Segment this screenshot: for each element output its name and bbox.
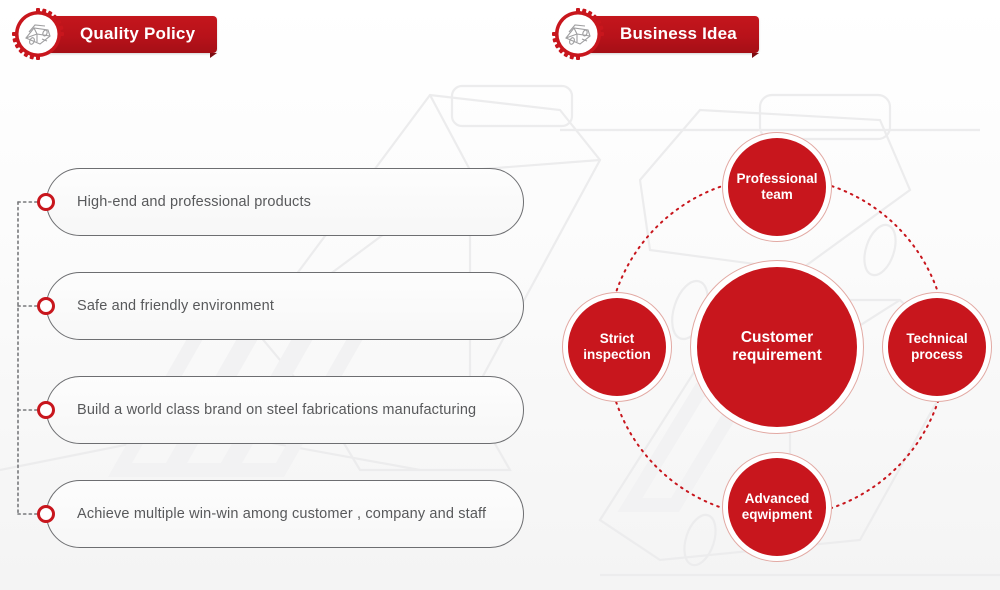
satellite-node-label: Strict inspection [568,331,666,363]
policy-marker [37,401,55,419]
section-header-quality-policy: Quality Policy [12,8,217,60]
satellite-node-strict-inspection[interactable]: Strict inspection [568,298,666,396]
slide-canvas: Quality Policy [0,0,1000,590]
gear-machinery-icon [552,8,604,60]
center-node-label: Customer requirement [697,329,857,366]
satellite-node-advanced-equipment[interactable]: Advanced eqwipment [728,458,826,556]
header-bar-quality: Quality Policy [44,16,217,53]
gear-machinery-icon [12,8,64,60]
page-title-quality: Quality Policy [80,24,195,44]
quality-policy-list: High-end and professional products Safe … [0,150,540,570]
list-item-label: Achieve multiple win-win among customer … [77,506,486,522]
business-idea-diagram: Customer requirement Professional team T… [540,110,1000,590]
policy-marker [37,297,55,315]
policy-marker [37,505,55,523]
satellite-node-technical-process[interactable]: Technical process [888,298,986,396]
header-bar-business: Business Idea [584,16,759,53]
list-item-label: Safe and friendly environment [77,298,274,314]
satellite-node-label: Technical process [888,331,986,363]
satellite-node-professional-team[interactable]: Professional team [728,138,826,236]
list-item[interactable]: Safe and friendly environment [46,272,524,340]
list-item[interactable]: High-end and professional products [46,168,524,236]
list-item[interactable]: Build a world class brand on steel fabri… [46,376,524,444]
page-title-business: Business Idea [620,24,737,44]
section-header-business-idea: Business Idea [552,8,759,60]
satellite-node-label: Professional team [728,171,826,203]
satellite-node-label: Advanced eqwipment [728,491,826,523]
list-item-label: High-end and professional products [77,194,311,210]
list-item[interactable]: Achieve multiple win-win among customer … [46,480,524,548]
center-node-customer-requirement[interactable]: Customer requirement [697,267,857,427]
policy-marker [37,193,55,211]
list-item-label: Build a world class brand on steel fabri… [77,402,476,418]
